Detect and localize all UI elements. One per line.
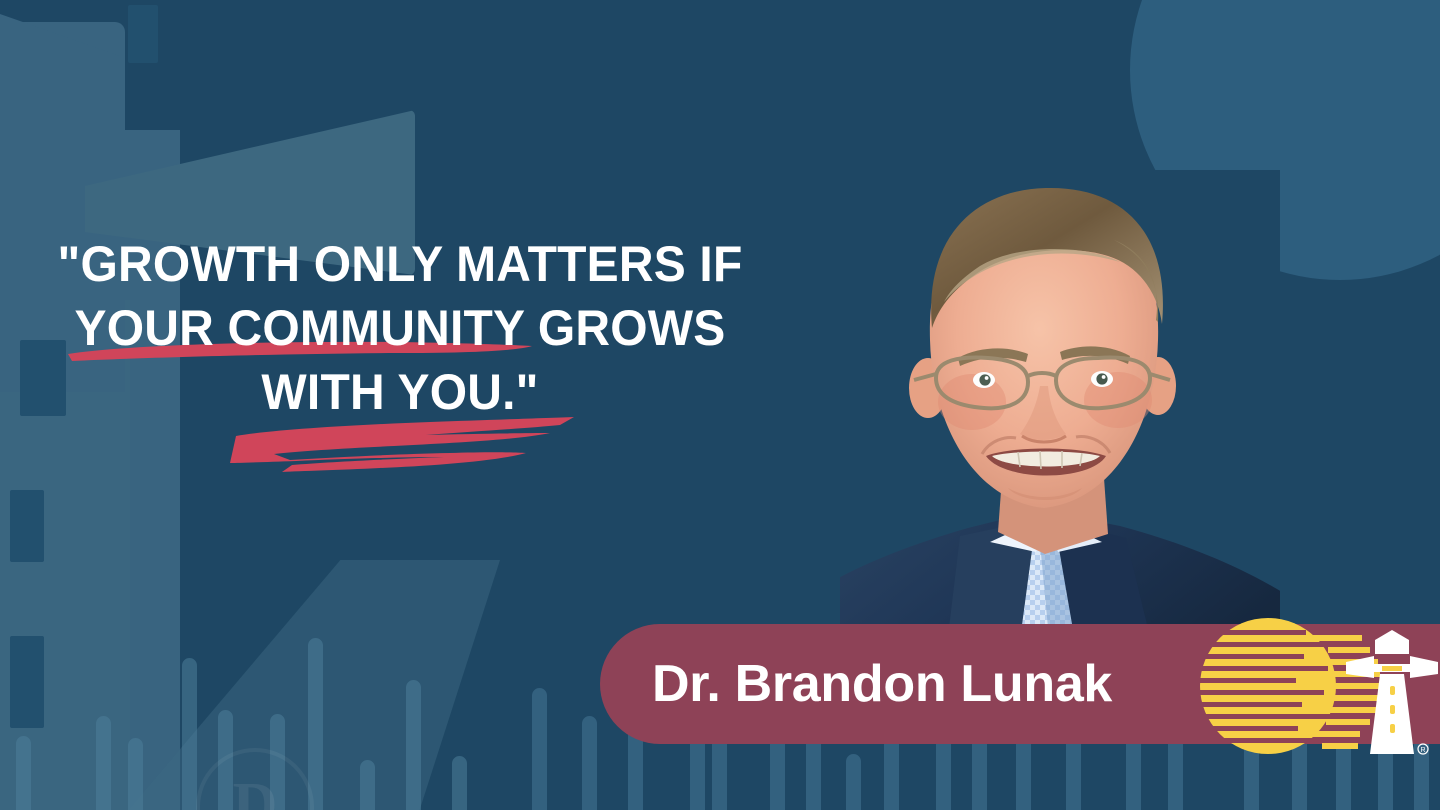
building-window bbox=[10, 490, 44, 562]
quote-line-1: "GROWTH ONLY MATTERS IF bbox=[16, 232, 784, 296]
speaker-name: Dr. Brandon Lunak bbox=[652, 654, 1112, 714]
building-window bbox=[128, 5, 158, 63]
registered-trademark-mark: R bbox=[1418, 744, 1428, 754]
quote-line-3: WITH YOU." bbox=[16, 360, 784, 424]
quote-card-canvas: D bbox=[0, 0, 1440, 810]
speaker-headshot-photo bbox=[840, 170, 1280, 670]
watermark-letter: D bbox=[233, 774, 278, 810]
quote-line-2: YOUR COMMUNITY GROWS bbox=[16, 296, 784, 360]
svg-text:R: R bbox=[1420, 747, 1425, 754]
quote-text: "GROWTH ONLY MATTERS IF YOUR COMMUNITY G… bbox=[16, 232, 784, 424]
sun-lighthouse-logo: R bbox=[1196, 612, 1440, 764]
quote-scribble-stroke bbox=[230, 416, 580, 474]
building-roof bbox=[0, 14, 120, 56]
